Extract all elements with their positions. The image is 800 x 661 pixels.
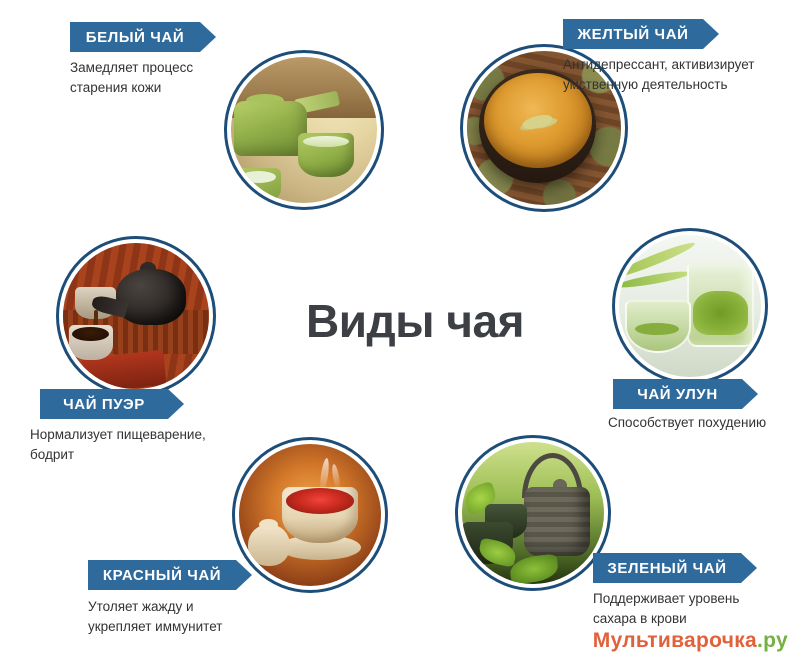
photo-circle-red-tea bbox=[232, 437, 388, 593]
description-oolong-tea: Способствует похудению bbox=[608, 413, 800, 433]
logo-tld: .ру bbox=[757, 629, 788, 652]
arrow-tip-icon bbox=[168, 389, 184, 419]
arrow-tip-icon bbox=[742, 379, 758, 409]
page-title: Виды чая bbox=[250, 298, 580, 344]
banner-white-tea[interactable]: БЕЛЫЙ ЧАЙ bbox=[70, 22, 216, 52]
banner-puer-tea[interactable]: ЧАЙ ПУЭР bbox=[40, 389, 184, 419]
photo-puer-tea bbox=[63, 243, 209, 389]
arrow-tip-icon bbox=[703, 19, 719, 49]
banner-label-green-tea: ЗЕЛЕНЫЙ ЧАЙ bbox=[593, 553, 741, 583]
photo-detail bbox=[116, 269, 186, 324]
photo-circle-green-tea bbox=[455, 435, 611, 591]
photo-circle-puer-tea bbox=[56, 236, 216, 396]
banner-label-white-tea: БЕЛЫЙ ЧАЙ bbox=[70, 22, 200, 52]
arrow-tip-icon bbox=[741, 553, 757, 583]
photo-green-tea bbox=[462, 442, 604, 584]
description-yellow-tea: Антидепрессант, активизирует умственную … bbox=[563, 55, 798, 94]
description-puer-tea: Нормализует пищеварение, бодрит bbox=[30, 425, 260, 464]
arrow-tip-icon bbox=[236, 560, 252, 590]
photo-detail bbox=[625, 300, 691, 352]
description-white-tea: Замедляет процесс старения кожи bbox=[70, 58, 280, 97]
photo-detail bbox=[331, 464, 341, 490]
photo-detail bbox=[687, 263, 753, 347]
photo-detail bbox=[69, 325, 113, 360]
banner-label-oolong-tea: ЧАЙ УЛУН bbox=[613, 379, 742, 409]
photo-detail bbox=[237, 168, 281, 203]
banner-red-tea[interactable]: КРАСНЫЙ ЧАЙ bbox=[88, 560, 252, 590]
photo-detail bbox=[693, 291, 748, 336]
description-red-tea: Утоляет жажду и укрепляет иммунитет bbox=[88, 597, 318, 636]
banner-label-red-tea: КРАСНЫЙ ЧАЙ bbox=[88, 560, 236, 590]
banner-oolong-tea[interactable]: ЧАЙ УЛУН bbox=[613, 379, 758, 409]
banner-green-tea[interactable]: ЗЕЛЕНЫЙ ЧАЙ bbox=[593, 553, 757, 583]
photo-red-tea bbox=[239, 444, 381, 586]
infographic-canvas: Виды чая БЕЛЫЙ ЧАЙ Замедляет процесс ста… bbox=[0, 0, 800, 661]
banner-yellow-tea[interactable]: ЖЕЛТЫЙ ЧАЙ bbox=[563, 19, 719, 49]
site-logo[interactable]: Мультиварочка.ру bbox=[593, 629, 788, 653]
photo-detail bbox=[286, 488, 354, 514]
banner-label-puer-tea: ЧАЙ ПУЭР bbox=[40, 389, 168, 419]
photo-circle-oolong-tea bbox=[612, 228, 768, 384]
banner-label-yellow-tea: ЖЕЛТЫЙ ЧАЙ bbox=[563, 19, 703, 49]
arrow-tip-icon bbox=[200, 22, 216, 52]
photo-oolong-tea bbox=[619, 235, 761, 377]
photo-detail bbox=[298, 133, 353, 177]
photo-detail bbox=[248, 524, 291, 567]
photo-detail bbox=[524, 487, 589, 555]
logo-name: Мультиварочка bbox=[593, 629, 757, 652]
description-green-tea: Поддерживает уровень сахара в крови bbox=[593, 589, 800, 628]
photo-detail bbox=[234, 101, 307, 156]
photo-detail bbox=[509, 553, 560, 583]
